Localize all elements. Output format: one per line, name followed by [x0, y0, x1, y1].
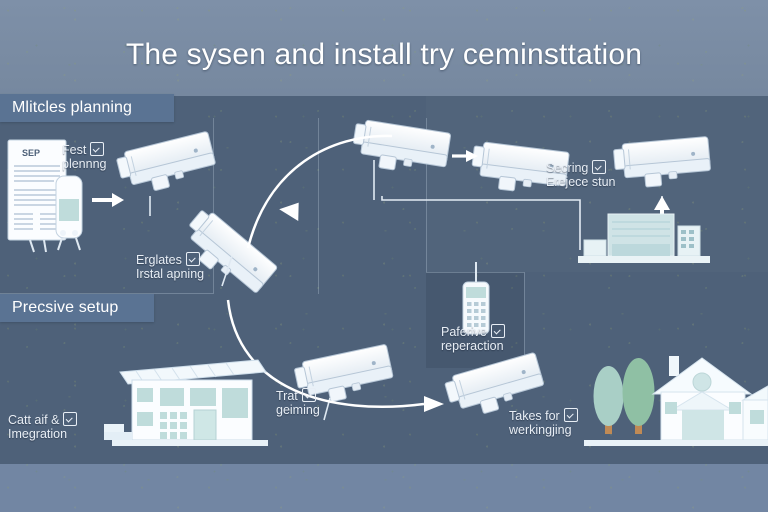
step-secring-line2: Erejece stun	[546, 175, 615, 189]
section-header-setup[interactable]: Precsive setup	[0, 294, 154, 322]
step-label-secring-erejece[interactable]: Secring Erejece stun	[546, 160, 615, 189]
section-header-planning[interactable]: Mlitcles planning	[0, 94, 174, 122]
arrow-right-icon	[92, 193, 124, 207]
step-label-takes-werkingjing[interactable]: Takes for werkingjing	[509, 408, 578, 437]
step-paferive-line1: Paferive	[441, 325, 487, 339]
step-label-trat-geiming[interactable]: Trat geiming	[276, 388, 320, 417]
section-header-planning-label: Mlitcles planning	[12, 99, 132, 117]
step-label-catt-imegration[interactable]: Catt aif & Imegration	[8, 412, 77, 441]
step-label-paferive-reperaction[interactable]: Paferive reperaction	[441, 324, 505, 353]
step-secring-line1: Secring	[546, 161, 588, 175]
modern-house-icon	[104, 360, 268, 446]
illustration-canvas: The sysen and install try ceminsttation	[0, 0, 768, 512]
step-erglates-line1: Erglates	[136, 253, 182, 267]
step-takes-line2: werkingjing	[509, 423, 578, 437]
step-paferive-line2: reperaction	[441, 339, 505, 353]
checkbox-icon[interactable]	[592, 160, 606, 174]
security-camera-icon	[613, 137, 712, 190]
city-buildings-icon	[578, 214, 710, 263]
step-erglates-line2: Irstal apning	[136, 267, 204, 281]
scene-artwork: SEP	[0, 0, 768, 512]
step-trat-line1: Trat	[276, 389, 298, 403]
step-fest-planning-line2: plennng	[62, 157, 107, 171]
checkbox-icon[interactable]	[63, 412, 77, 426]
tree-icon	[594, 366, 624, 434]
checkbox-icon[interactable]	[491, 324, 505, 338]
checkbox-icon[interactable]	[186, 252, 200, 266]
checkbox-icon[interactable]	[90, 142, 104, 156]
step-label-fest-planning[interactable]: Fest plennng	[62, 142, 107, 171]
section-header-setup-label: Precsive setup	[12, 299, 118, 317]
security-camera-icon	[350, 119, 451, 178]
step-catt-line1: Catt aif &	[8, 413, 59, 427]
tree-icon	[623, 358, 655, 434]
step-catt-line2: Imegration	[8, 427, 77, 441]
security-camera-icon	[115, 131, 218, 198]
checkbox-icon[interactable]	[302, 388, 316, 402]
step-takes-line1: Takes for	[509, 409, 560, 423]
step-trat-line2: geiming	[276, 403, 320, 417]
svg-text:SEP: SEP	[22, 148, 40, 158]
step-fest-planning-line1: Fest	[62, 143, 86, 157]
step-label-erglates-install[interactable]: Erglates Irstal apning	[136, 252, 204, 281]
checkbox-icon[interactable]	[564, 408, 578, 422]
